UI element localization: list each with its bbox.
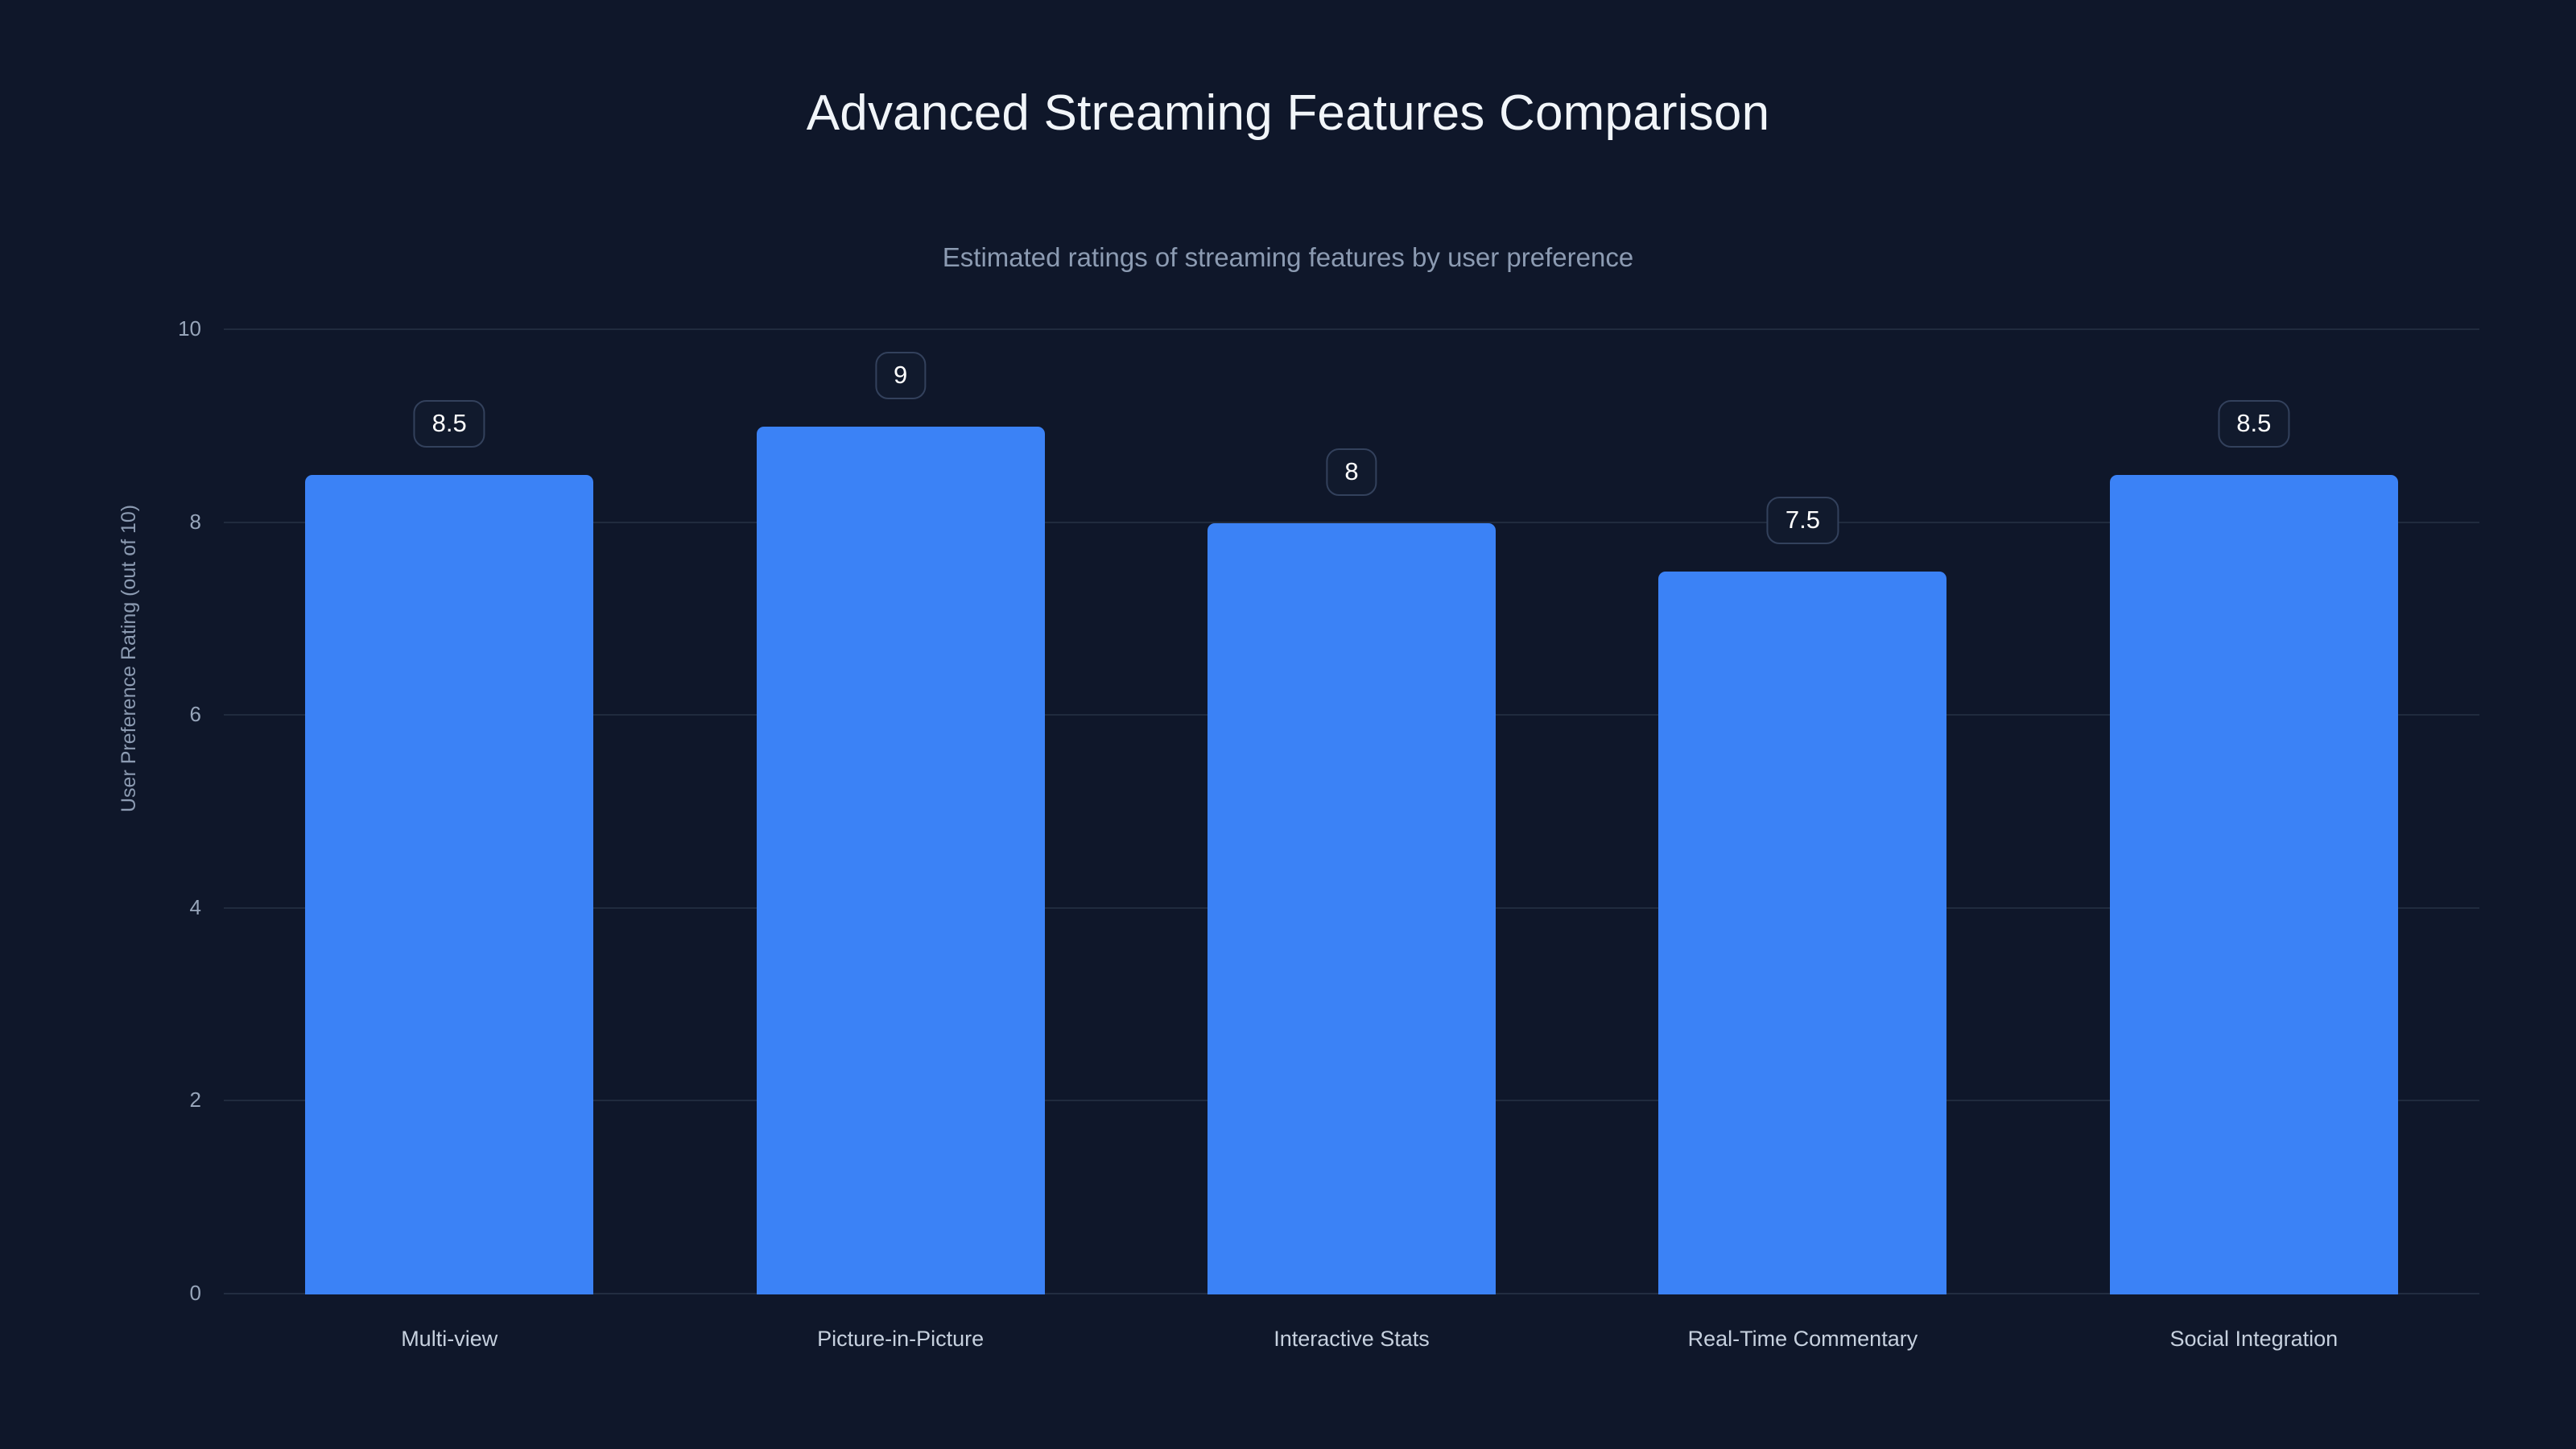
bar-band: 9Picture-in-Picture xyxy=(675,330,1125,1294)
y-axis-tick-label: 4 xyxy=(190,897,201,918)
y-axis-title: User Preference Rating (out of 10) xyxy=(119,505,139,812)
bar-value-label: 8.5 xyxy=(414,400,485,448)
y-axis-tick-label: 0 xyxy=(190,1282,201,1303)
chart-title: Advanced Streaming Features Comparison xyxy=(0,89,2576,138)
bar[interactable] xyxy=(305,475,593,1294)
bar-band: 7.5Real-Time Commentary xyxy=(1577,330,2028,1294)
x-axis-tick-label: Social Integration xyxy=(2170,1328,2339,1350)
x-axis-tick-label: Picture-in-Picture xyxy=(817,1328,984,1350)
chart-subtitle: Estimated ratings of streaming features … xyxy=(0,244,2576,270)
bar-band: 8Interactive Stats xyxy=(1126,330,1577,1294)
plot-area: 0246810 8.5Multi-view9Picture-in-Picture… xyxy=(224,330,2479,1294)
bar[interactable] xyxy=(2110,475,2398,1294)
bar[interactable] xyxy=(1658,572,1946,1295)
y-axis-tick-label: 2 xyxy=(190,1089,201,1110)
bar[interactable] xyxy=(1207,523,1496,1294)
bar-chart-canvas: Advanced Streaming Features Comparison E… xyxy=(0,0,2576,1449)
x-axis-tick-label: Interactive Stats xyxy=(1274,1328,1430,1350)
bar-value-label: 9 xyxy=(875,352,926,399)
bar[interactable] xyxy=(757,427,1045,1294)
bar-value-label: 7.5 xyxy=(1767,497,1839,544)
y-axis-tick-label: 6 xyxy=(190,704,201,724)
y-axis-tick-label: 8 xyxy=(190,511,201,532)
bar-value-label: 8 xyxy=(1326,448,1377,496)
bar-band: 8.5Multi-view xyxy=(224,330,675,1294)
y-axis-tick-label: 10 xyxy=(178,318,201,339)
bar-group: 8.5Multi-view9Picture-in-Picture8Interac… xyxy=(224,330,2479,1294)
bar-band: 8.5Social Integration xyxy=(2029,330,2479,1294)
bar-value-label: 8.5 xyxy=(2218,400,2289,448)
x-axis-tick-label: Real-Time Commentary xyxy=(1688,1328,1918,1350)
x-axis-tick-label: Multi-view xyxy=(401,1328,497,1350)
